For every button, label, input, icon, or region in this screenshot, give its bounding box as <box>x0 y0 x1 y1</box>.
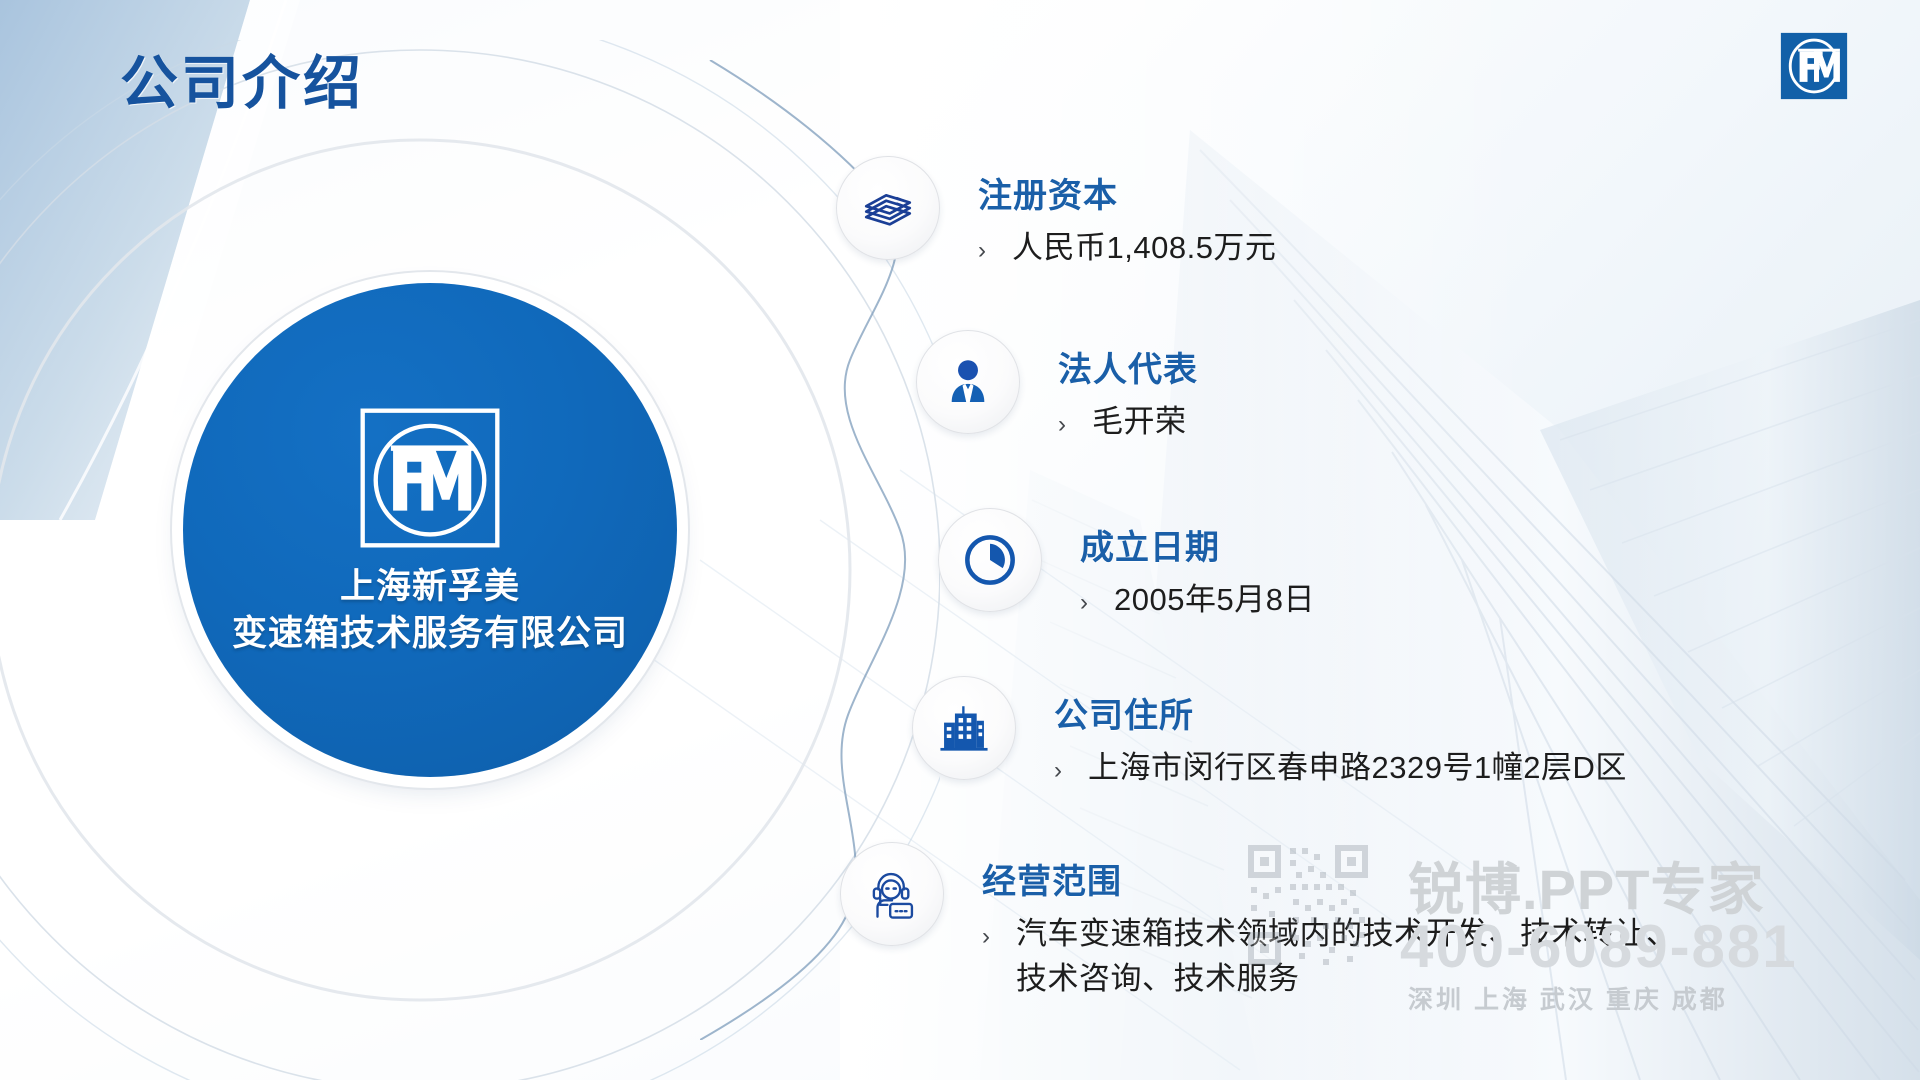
info-value: 人民币1,408.5万元 <box>1012 226 1276 271</box>
money-stack-icon <box>836 156 940 260</box>
chevron-right-icon: › <box>1080 586 1088 621</box>
info-item-company-address: 公司住所 › 上海市闵行区春申路2329号1幢2层D区 <box>912 676 1627 791</box>
company-badge: 上海新孚美 变速箱技术服务有限公司 <box>183 283 677 777</box>
info-item-business-scope: 经营范围 › 汽车变速箱技术领域内的技术开发、技术转让、 › 技术咨询、技术服务 <box>840 842 1678 1002</box>
chevron-right-icon: › <box>1054 754 1062 789</box>
badge-name-line2: 变速箱技术服务有限公司 <box>232 611 628 658</box>
fm-logo-icon <box>354 402 506 554</box>
info-line: › 人民币1,408.5万元 <box>978 226 1276 271</box>
info-line: › 技术咨询、技术服务 <box>982 957 1678 1002</box>
info-heading: 成立日期 <box>1080 520 1315 569</box>
info-item-founding-date: 成立日期 › 2005年5月8日 <box>938 508 1315 623</box>
info-value: 汽车变速箱技术领域内的技术开发、技术转让、 <box>1016 912 1678 957</box>
badge-name-line1: 上海新孚美 <box>232 564 628 611</box>
page-title: 公司介绍 <box>120 36 364 120</box>
clock-icon <box>938 508 1042 612</box>
info-heading: 经营范围 <box>982 854 1678 903</box>
info-line: › 2005年5月8日 <box>1080 578 1315 623</box>
info-line: › 汽车变速箱技术领域内的技术开发、技术转让、 <box>982 912 1678 957</box>
info-value: 2005年5月8日 <box>1114 578 1315 623</box>
info-heading: 注册资本 <box>978 168 1276 217</box>
fm-logo-icon <box>1778 30 1850 102</box>
info-heading: 公司住所 <box>1054 688 1627 737</box>
info-item-registered-capital: 注册资本 › 人民币1,408.5万元 <box>836 156 1276 271</box>
chevron-right-icon: › <box>978 234 986 269</box>
businessperson-icon <box>916 330 1020 434</box>
info-value: 技术咨询、技术服务 <box>1016 957 1300 1002</box>
info-line: › 毛开荣 <box>1058 400 1198 445</box>
chevron-right-icon: › <box>982 920 990 955</box>
info-item-legal-representative: 法人代表 › 毛开荣 <box>916 330 1198 445</box>
info-line: › 上海市闵行区春申路2329号1幢2层D区 <box>1054 746 1627 791</box>
info-heading: 法人代表 <box>1058 342 1198 391</box>
office-building-icon <box>912 676 1016 780</box>
info-value: 上海市闵行区春申路2329号1幢2层D区 <box>1088 746 1627 791</box>
chevron-right-icon: › <box>1058 408 1066 443</box>
headset-support-icon <box>840 842 944 946</box>
info-value: 毛开荣 <box>1092 400 1187 445</box>
slide-canvas: 公司介绍 上海新孚美 变速箱技术服务有限公司 <box>0 0 1920 1080</box>
